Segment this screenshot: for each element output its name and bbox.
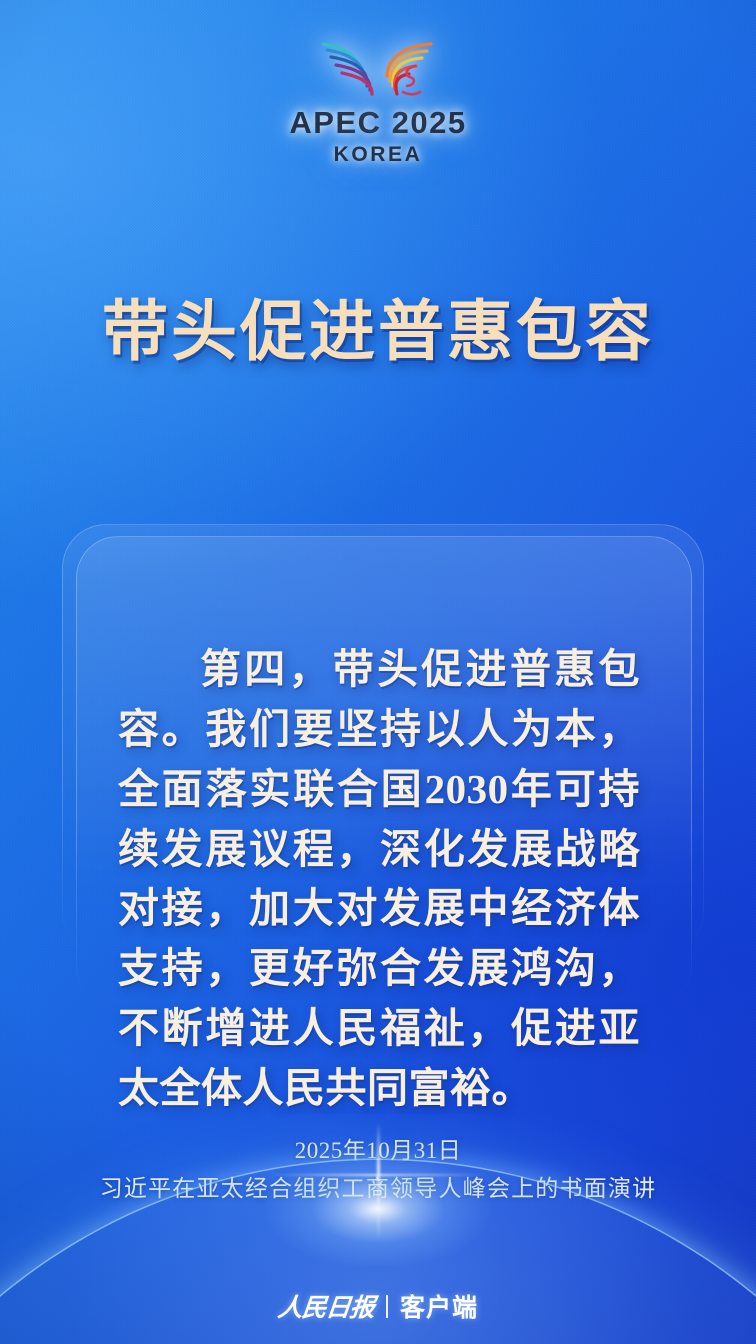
page-title: 带头促进普惠包容	[0, 278, 756, 374]
apec-wordmark: APEC 2025	[0, 106, 756, 141]
quote-body-text: 第四，带头促进普惠包容。我们要坚持以人为本，全面落实联合国2030年可持续发展议…	[118, 640, 640, 1119]
attribution-source: 习近平在亚太经合组织工商领导人峰会上的书面演讲	[0, 1171, 756, 1207]
product-name: 客户端	[400, 1288, 478, 1324]
poster-canvas: APEC 2025 KOREA 带头促进普惠包容 第四，带头促进普惠包容。我们要…	[0, 0, 756, 1344]
apec-host-country: KOREA	[0, 141, 756, 168]
apec-logo-block: APEC 2025 KOREA	[0, 26, 756, 168]
attribution-block: 2025年10月31日 习近平在亚太经合组织工商领导人峰会上的书面演讲	[0, 1134, 756, 1206]
footer-brand: 人民日报 客户端	[0, 1288, 756, 1324]
publisher-logo: 人民日报	[276, 1288, 376, 1324]
brand-divider-icon	[386, 1295, 388, 1318]
apec-2025-korea-emblem-icon	[303, 26, 453, 104]
attribution-date: 2025年10月31日	[0, 1134, 756, 1169]
